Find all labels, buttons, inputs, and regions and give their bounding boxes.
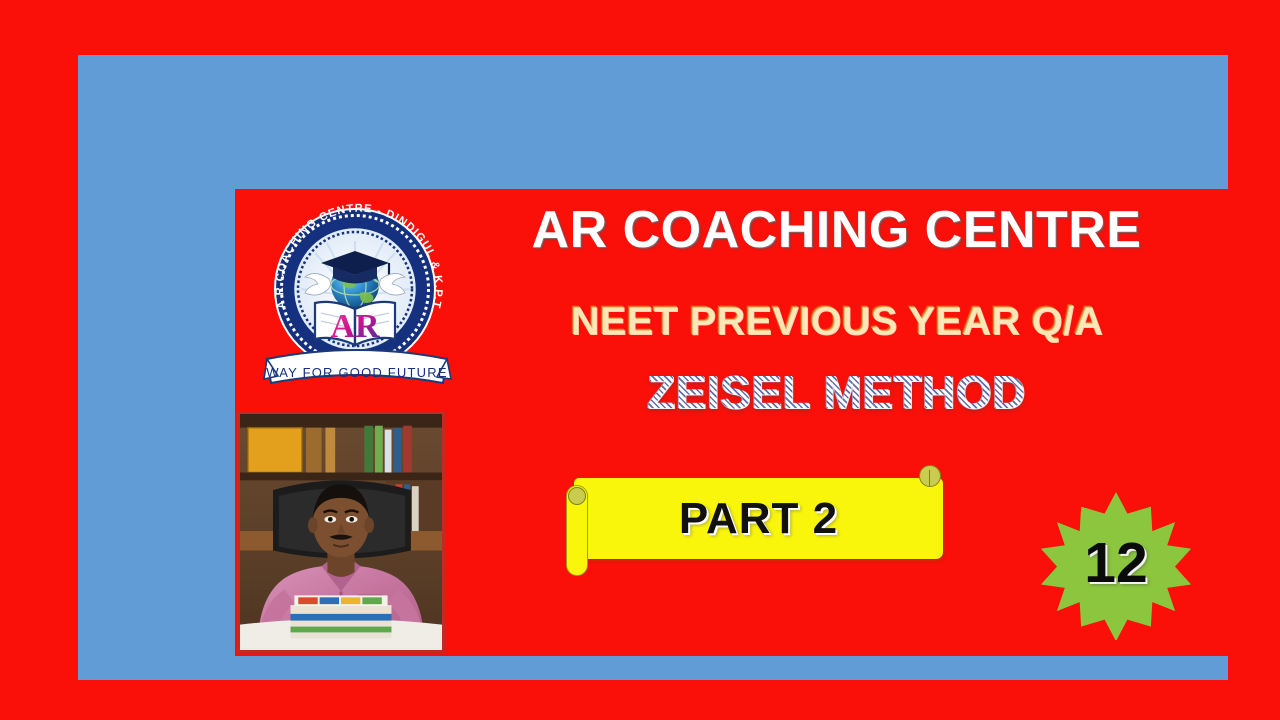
- part-label: PART 2: [574, 478, 943, 559]
- page-title: AR COACHING CENTRE: [445, 203, 1228, 258]
- class-number-badge: 12: [1040, 488, 1192, 640]
- logo-monogram: AR: [330, 308, 380, 345]
- logo-ribbon: WAY FOR GOOD FUTURE: [264, 350, 451, 383]
- subtitle-neet-previous-year: NEET PREVIOUS YEAR Q/A: [445, 299, 1228, 344]
- ar-coaching-centre-logo: A R COACHING CENTRE - DINDIGUL & K.P.T: [263, 201, 455, 393]
- part-scroll-banner: PART 2: [566, 471, 951, 566]
- instructor-photo: [237, 411, 445, 653]
- blue-mat-frame: A R COACHING CENTRE - DINDIGUL & K.P.T: [78, 55, 1228, 680]
- topic-title-zeisel-method: ZEISEL METHOD: [445, 365, 1228, 419]
- logo-ribbon-text: WAY FOR GOOD FUTURE: [266, 365, 447, 380]
- thumbnail-canvas: A R COACHING CENTRE - DINDIGUL & K.P.T: [0, 0, 1280, 720]
- red-title-panel: A R COACHING CENTRE - DINDIGUL & K.P.T: [235, 189, 1228, 656]
- class-number-value: 12: [1040, 488, 1192, 640]
